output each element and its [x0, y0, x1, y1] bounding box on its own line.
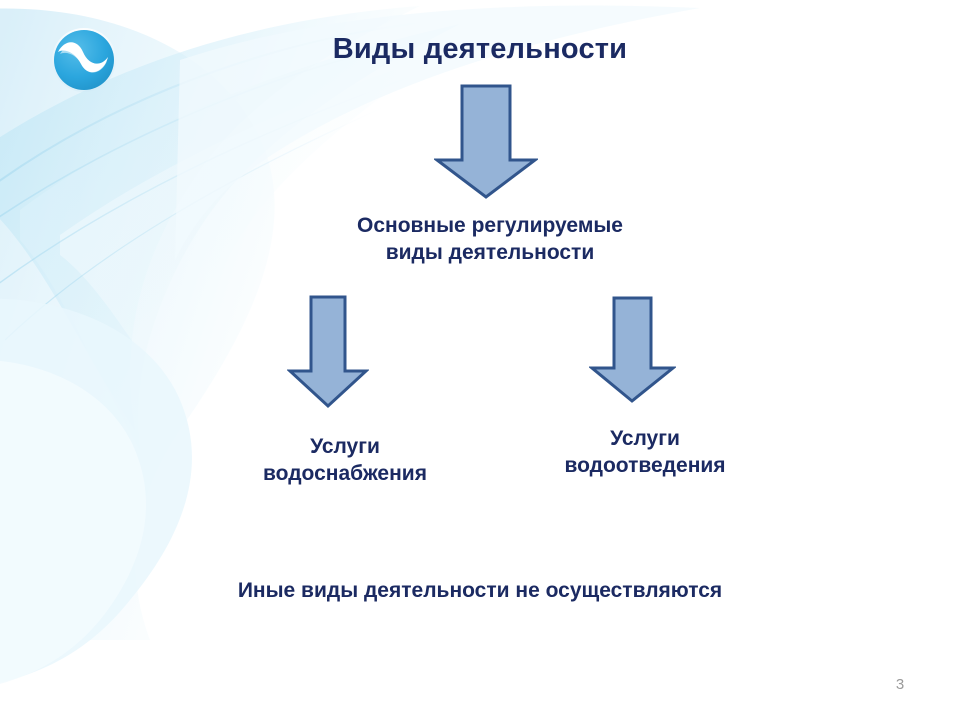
arrow-down-left — [287, 295, 369, 409]
node-water-supply-line-2: водоснабжения — [205, 461, 485, 488]
node-water-supply: Услуги водоснабжения — [205, 434, 485, 488]
node-main-activities: Основные регулируемые виды деятельности — [280, 213, 700, 267]
arrow-down-top — [434, 84, 538, 200]
page-title: Виды деятельности — [240, 33, 720, 66]
node-water-disposal-line-1: Услуги — [505, 426, 785, 453]
slide-canvas: Виды деятельности Основные регулируемые … — [0, 0, 960, 720]
page-number: 3 — [880, 676, 920, 693]
node-water-disposal-line-2: водоотведения — [505, 453, 785, 480]
node-main-line-2: виды деятельности — [280, 240, 700, 267]
arrow-down-right — [589, 296, 676, 404]
node-main-line-1: Основные регулируемые — [280, 213, 700, 240]
node-water-disposal: Услуги водоотведения — [505, 426, 785, 480]
water-wave-circle-logo — [50, 26, 118, 94]
footer-note: Иные виды деятельности не осуществляются — [130, 578, 830, 605]
node-water-supply-line-1: Услуги — [205, 434, 485, 461]
